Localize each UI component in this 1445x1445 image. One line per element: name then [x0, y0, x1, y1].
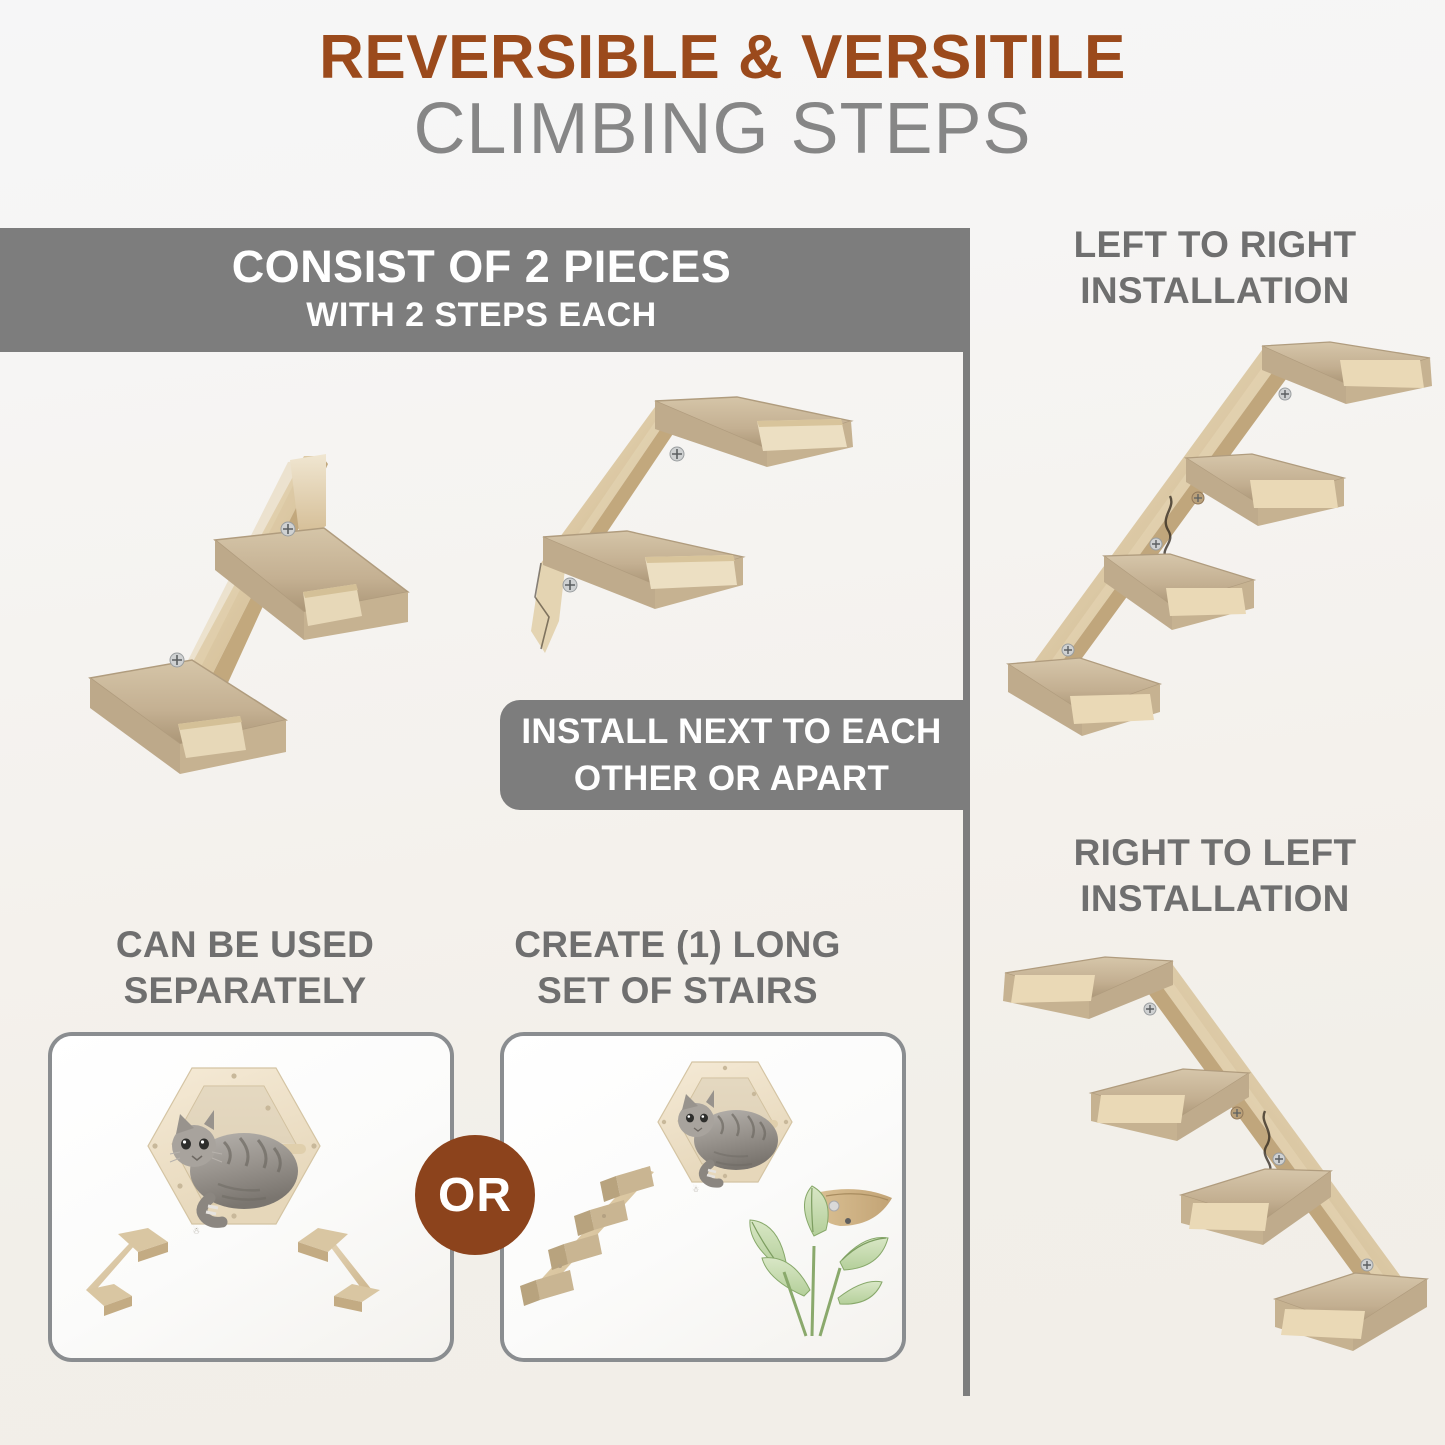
wall-shelf — [818, 1189, 892, 1226]
caption-can-be-used-separately: CAN BE USED SEPARATELY — [90, 922, 400, 1014]
product-assembly-right-to-left — [985, 955, 1440, 1355]
svg-text:☃: ☃ — [192, 1225, 200, 1236]
caption-long-line2: SET OF STAIRS — [500, 968, 855, 1014]
banner-install-line2: OTHER OR APART — [500, 755, 963, 802]
section-divider — [963, 228, 970, 1396]
caption-long-line1: CREATE (1) LONG — [500, 922, 855, 968]
banner-consist-line2: WITH 2 STEPS EACH — [0, 294, 963, 336]
banner-install-line1: INSTALL NEXT TO EACH — [500, 708, 963, 755]
or-badge-label: OR — [438, 1168, 512, 1223]
photo-left-scene: ☃ — [52, 1036, 442, 1350]
caption-rtl-line1: RIGHT TO LEFT — [1000, 830, 1430, 876]
caption-ltr-line1: LEFT TO RIGHT — [1000, 222, 1430, 268]
svg-text:☃: ☃ — [692, 1184, 699, 1194]
single-piece-right-illustration — [505, 385, 905, 665]
caption-separately-line2: SEPARATELY — [90, 968, 400, 1014]
caption-right-to-left-installation: RIGHT TO LEFT INSTALLATION — [1000, 830, 1430, 922]
banner-install-next-to-each-other: INSTALL NEXT TO EACH OTHER OR APART — [500, 700, 963, 810]
long-staircase — [520, 1166, 654, 1306]
caption-ltr-line2: INSTALLATION — [1000, 268, 1430, 314]
assembly-rtl-illustration — [985, 955, 1440, 1355]
infographic-root: REVERSIBLE & VERSITILE CLIMBING STEPS CO… — [0, 0, 1445, 1445]
mini-step-piece-left — [86, 1228, 168, 1316]
photo-right-content: ☃ — [504, 1036, 902, 1358]
product-single-piece-left — [60, 440, 430, 790]
caption-separately-line1: CAN BE USED — [90, 922, 400, 968]
caption-rtl-line2: INSTALLATION — [1000, 876, 1430, 922]
page-title-secondary: CLIMBING STEPS — [0, 88, 1445, 170]
photo-right-scene: ☃ — [504, 1036, 894, 1350]
caption-create-long-set-of-stairs: CREATE (1) LONG SET OF STAIRS — [500, 922, 855, 1014]
photo-card-long-set-of-stairs: ☃ — [500, 1032, 906, 1362]
caption-left-to-right-installation: LEFT TO RIGHT INSTALLATION — [1000, 222, 1430, 314]
photo-left-content: ☃ — [52, 1036, 450, 1358]
photo-card-used-separately: ☃ — [48, 1032, 454, 1362]
or-badge: OR — [415, 1135, 535, 1255]
product-assembly-left-to-right — [1000, 340, 1445, 740]
product-single-piece-right — [505, 385, 905, 665]
header: REVERSIBLE & VERSITILE CLIMBING STEPS — [0, 0, 1445, 200]
page-title-primary: REVERSIBLE & VERSITILE — [0, 22, 1445, 93]
single-piece-left-illustration — [60, 440, 430, 790]
banner-consist-of-2-pieces: CONSIST OF 2 PIECES WITH 2 STEPS EACH — [0, 228, 963, 352]
mini-step-piece-right — [298, 1228, 380, 1312]
assembly-ltr-illustration — [1000, 340, 1445, 740]
banner-consist-line1: CONSIST OF 2 PIECES — [0, 240, 963, 294]
